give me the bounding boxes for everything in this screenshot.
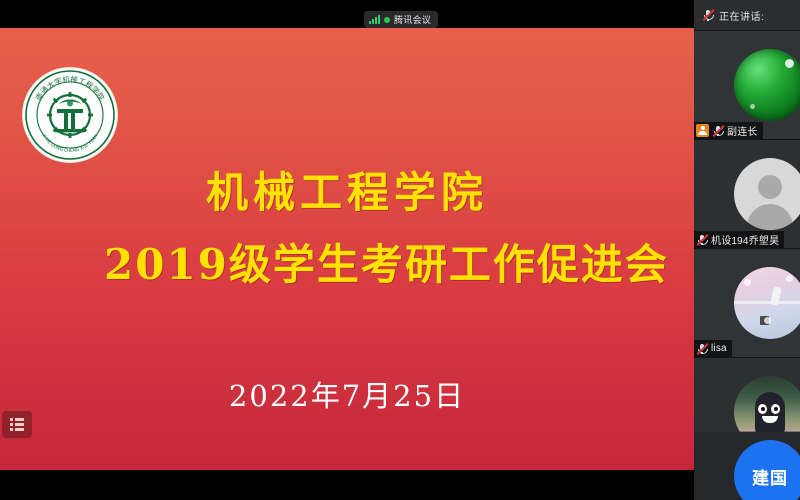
- slide-date: 2022年7月25日: [0, 373, 694, 415]
- participant-tile[interactable]: 建国: [694, 432, 800, 500]
- mic-muted-icon: [712, 125, 724, 137]
- participant-nameplate: 机设194乔塱昊: [694, 231, 784, 248]
- university-emblem: 南通大学机械工程学院 JI XIE GONG CHENG XUE YUAN: [22, 67, 118, 163]
- avatar-initials: 建国: [752, 464, 788, 489]
- meeting-screen: 南通大学机械工程学院 JI XIE GONG CHENG XUE YUAN 机械…: [0, 0, 800, 500]
- meeting-app-name: 腾讯会议: [394, 13, 431, 26]
- host-badge-icon: [696, 124, 709, 137]
- list-menu-icon[interactable]: [2, 411, 32, 438]
- avatar: 建国: [734, 440, 800, 500]
- mic-muted-icon: [702, 9, 714, 21]
- green-status-dot: [384, 17, 390, 23]
- speaking-now-label: 正在讲话:: [719, 8, 764, 23]
- slide-title-line2: 2019级学生考研工作促进会: [104, 231, 694, 292]
- shared-slide[interactable]: 南通大学机械工程学院 JI XIE GONG CHENG XUE YUAN 机械…: [0, 28, 694, 470]
- participant-rail[interactable]: 正在讲话: 副连长 机设194乔塱昊: [694, 0, 800, 500]
- participant-tile[interactable]: 副连长: [694, 31, 800, 140]
- mic-muted-icon: [696, 343, 708, 355]
- participant-nameplate: 副连长: [694, 122, 763, 139]
- participant-nameplate: lisa: [694, 340, 732, 357]
- avatar: [734, 158, 800, 230]
- participant-name: 机设194乔塱昊: [711, 232, 779, 247]
- meeting-status-pill[interactable]: 腾讯会议: [364, 11, 438, 28]
- slide-title-line1: 机械工程学院: [0, 159, 694, 220]
- mic-muted-icon: [696, 234, 708, 246]
- speaking-now-header: 正在讲话:: [694, 0, 800, 31]
- participant-tile[interactable]: lisa: [694, 249, 800, 358]
- avatar: [734, 267, 800, 339]
- avatar: [734, 49, 800, 121]
- participant-tile[interactable]: 机设194乔塱昊: [694, 140, 800, 249]
- participant-name: 副连长: [727, 123, 758, 138]
- participant-name: lisa: [711, 343, 727, 354]
- signal-bars-icon: [369, 15, 380, 24]
